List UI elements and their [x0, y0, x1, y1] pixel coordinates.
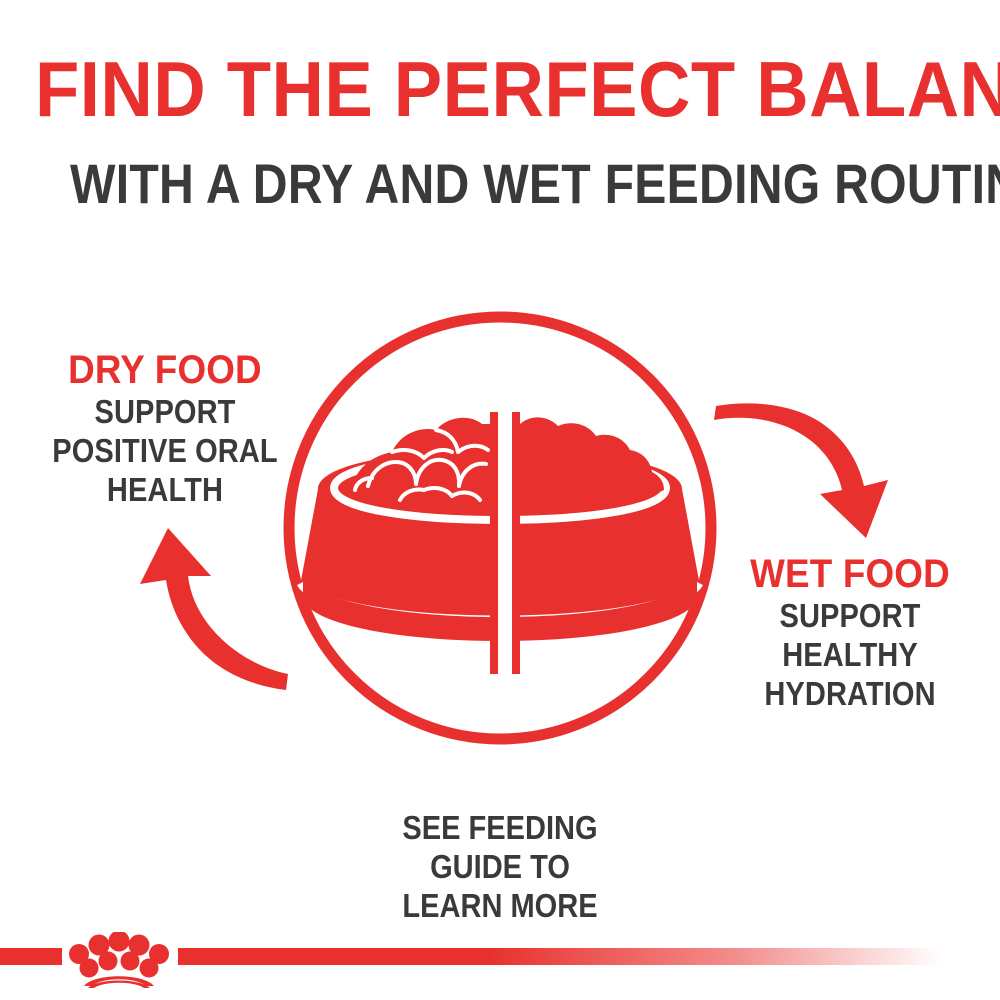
bowl-inner-rim [334, 456, 666, 520]
callout-wet-line-1: SUPPORT HEALTHY [718, 596, 982, 674]
caption-line-2: GUIDE TO [350, 847, 649, 886]
footer [0, 920, 1000, 1000]
callout-dry-line-2: POSITIVE ORAL [37, 431, 292, 470]
page-title: FIND THE PERFECT BALANCE [35, 46, 965, 132]
arrow-right-curved [714, 403, 888, 538]
callout-dry-category: DRY FOOD [32, 348, 299, 392]
footer-rule-right [178, 948, 1000, 965]
divider-gap [498, 412, 512, 674]
arrow-left-curved [140, 528, 288, 690]
bowl-base-gap [301, 583, 699, 620]
callout-wet-food: WET FOOD SUPPORT HEALTHY HYDRATION [700, 552, 1000, 713]
kibble-separators [355, 430, 488, 500]
callout-dry-line-1: SUPPORT [37, 392, 292, 431]
callout-dry-line-3: HEALTH [37, 470, 292, 509]
divider-line-left [490, 412, 498, 674]
wet-food-mound [520, 417, 664, 509]
bowl-base-ring [303, 572, 697, 641]
caption-line-1: SEE FEEDING [350, 808, 649, 847]
dry-kibble-group [352, 418, 490, 509]
page-subtitle: WITH A DRY AND WET FEEDING ROUTINE [70, 154, 930, 214]
feeding-guide-caption: SEE FEEDING GUIDE TO LEARN MORE [330, 808, 670, 925]
headline-block: FIND THE PERFECT BALANCE WITH A DRY AND … [0, 46, 1000, 214]
bowl-body [300, 450, 700, 630]
pet-food-bowl [300, 417, 700, 641]
bowl-divider [490, 412, 520, 674]
poster-canvas: FIND THE PERFECT BALANCE WITH A DRY AND … [0, 0, 1000, 1000]
callout-wet-category: WET FOOD [712, 552, 988, 596]
callout-dry-food: DRY FOOD SUPPORT POSITIVE ORAL HEALTH [20, 348, 310, 509]
royal-canin-crown-icon [66, 932, 172, 988]
callout-wet-line-2: HYDRATION [718, 674, 982, 713]
footer-rule-left [0, 948, 62, 965]
circle-outline [289, 317, 711, 739]
divider-line-right [512, 412, 520, 674]
kibble-mound [352, 418, 490, 509]
